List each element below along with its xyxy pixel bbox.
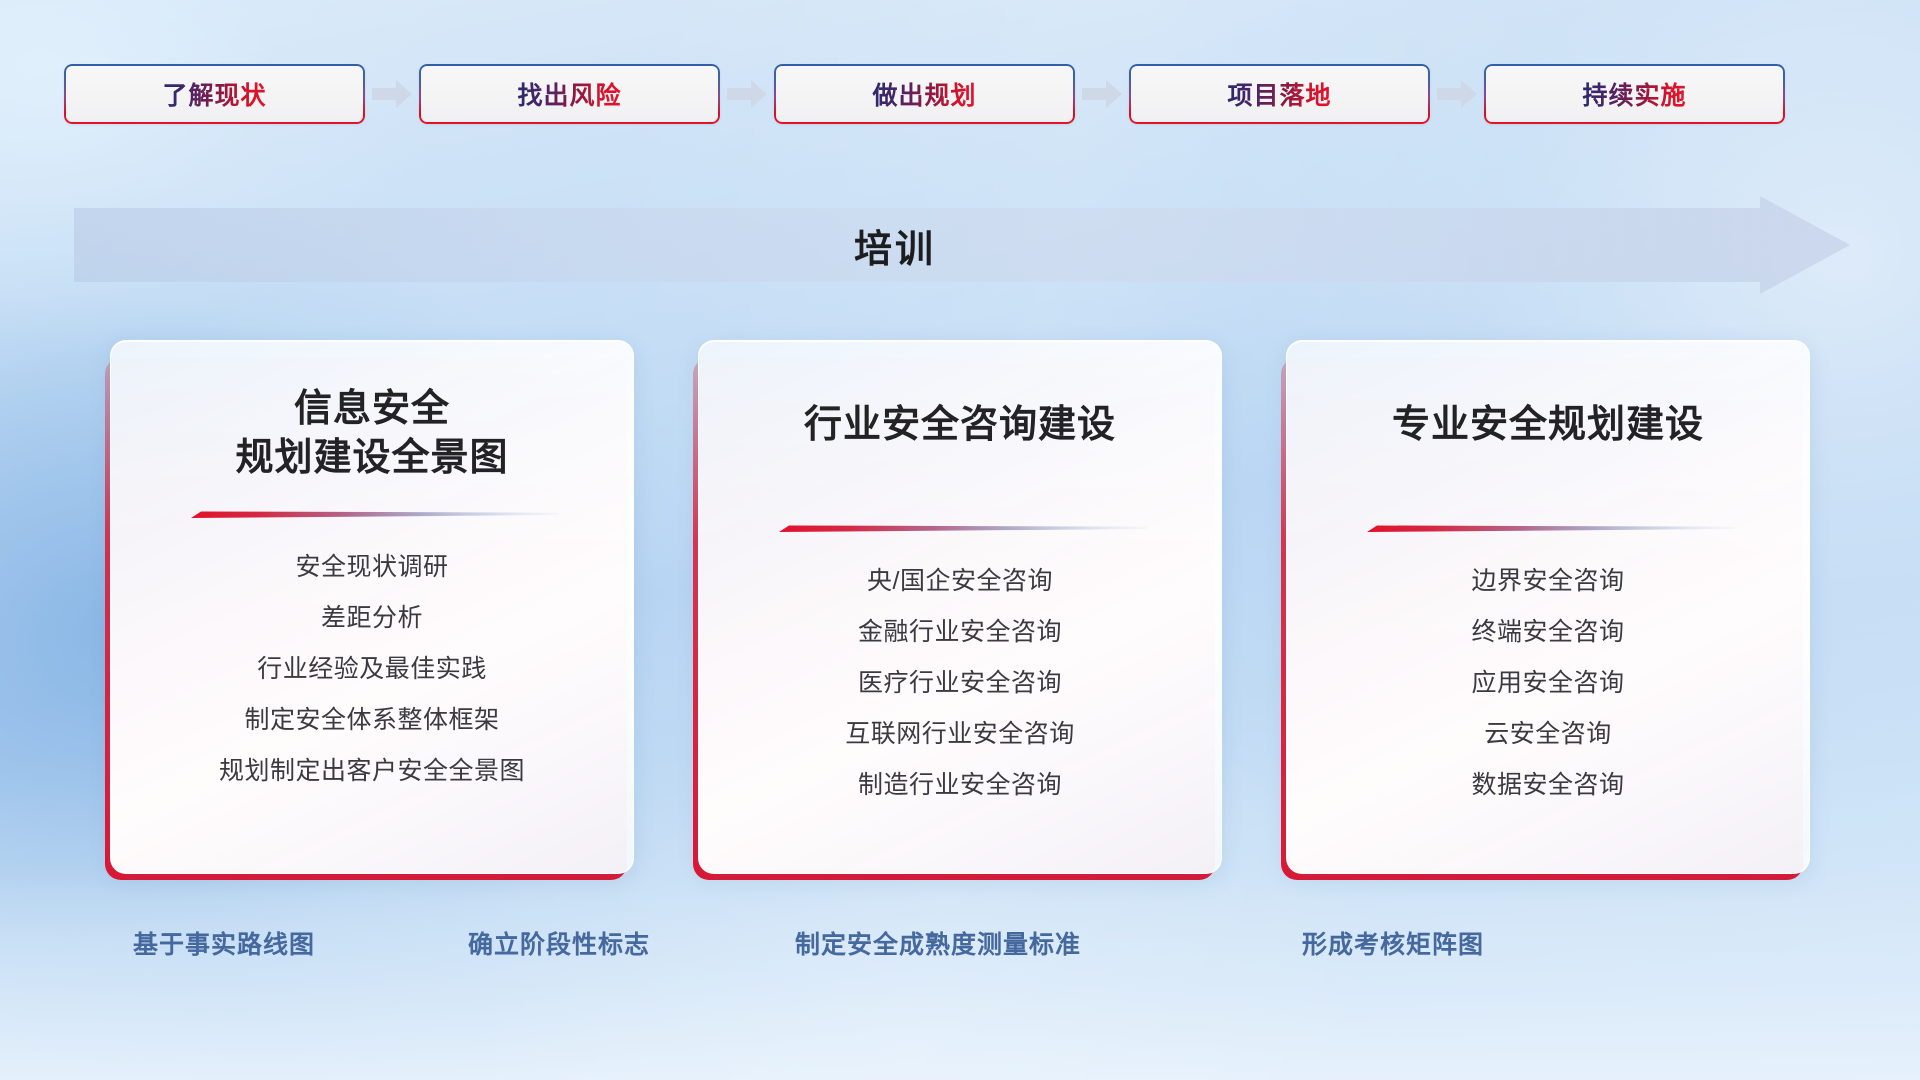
caption-item: 确立阶段性标志 bbox=[468, 925, 650, 961]
process-step-2[interactable]: 找出风险 bbox=[419, 64, 720, 124]
card-item-list: 边界安全咨询 终端安全咨询 应用安全咨询 云安全咨询 数据安全咨询 bbox=[1317, 536, 1779, 843]
arrow-right-icon bbox=[365, 77, 419, 111]
card-accent-divider bbox=[185, 508, 559, 522]
process-step-3[interactable]: 做出规划 bbox=[774, 64, 1075, 124]
arrow-right-icon bbox=[1430, 77, 1484, 111]
training-arrow-band bbox=[74, 196, 1850, 294]
process-step-label: 持续实施 bbox=[1582, 76, 1686, 112]
service-card-1[interactable]: 信息安全 规划建设全景图 bbox=[110, 340, 634, 874]
card-list-item: 数据安全咨询 bbox=[1317, 760, 1779, 811]
title-divider-spacer bbox=[141, 482, 603, 508]
card-list-item: 医疗行业安全咨询 bbox=[729, 658, 1191, 709]
card-list-item: 规划制定出客户安全全景图 bbox=[141, 746, 603, 797]
caption-item: 基于事实路线图 bbox=[133, 925, 315, 961]
caption-item: 制定安全成熟度测量标准 bbox=[795, 925, 1081, 961]
card-list-item: 央/国企安全咨询 bbox=[729, 556, 1191, 607]
card-body: 行业安全咨询建设 bbox=[698, 340, 1222, 874]
title-divider-spacer bbox=[1317, 450, 1779, 522]
caption-item: 形成考核矩阵图 bbox=[1302, 925, 1484, 961]
process-step-label: 做出规划 bbox=[872, 76, 976, 112]
card-item-list: 央/国企安全咨询 金融行业安全咨询 医疗行业安全咨询 互联网行业安全咨询 制造行… bbox=[729, 536, 1191, 843]
arrow-right-icon bbox=[720, 77, 774, 111]
card-list-item: 云安全咨询 bbox=[1317, 709, 1779, 760]
card-title: 专业安全规划建设 bbox=[1317, 385, 1779, 450]
card-list-item: 安全现状调研 bbox=[141, 542, 603, 593]
card-list-item: 边界安全咨询 bbox=[1317, 556, 1779, 607]
arrow-right-icon bbox=[1075, 77, 1129, 111]
card-body: 专业安全规划建设 bbox=[1286, 340, 1810, 874]
card-list-item: 行业经验及最佳实践 bbox=[141, 644, 603, 695]
card-list-item: 应用安全咨询 bbox=[1317, 658, 1779, 709]
title-divider-spacer bbox=[729, 450, 1191, 522]
caption-row: 基于事实路线图 确立阶段性标志 制定安全成熟度测量标准 形成考核矩阵图 bbox=[0, 925, 1920, 971]
process-step-label: 项目落地 bbox=[1227, 76, 1331, 112]
process-step-5[interactable]: 持续实施 bbox=[1484, 64, 1785, 124]
card-title: 行业安全咨询建设 bbox=[729, 385, 1191, 450]
card-list-item: 制造行业安全咨询 bbox=[729, 760, 1191, 811]
service-card-row: 信息安全 规划建设全景图 bbox=[110, 340, 1810, 880]
slide-canvas: 了解现状 找出风险 做出规划 项目落地 bbox=[0, 0, 1920, 1080]
card-accent-divider bbox=[773, 522, 1147, 536]
service-card-2[interactable]: 行业安全咨询建设 bbox=[698, 340, 1222, 874]
process-step-1[interactable]: 了解现状 bbox=[64, 64, 365, 124]
process-step-label: 了解现状 bbox=[162, 76, 266, 112]
card-item-list: 安全现状调研 差距分析 行业经验及最佳实践 制定安全体系整体框架 规划制定出客户… bbox=[141, 522, 603, 843]
card-list-item: 终端安全咨询 bbox=[1317, 607, 1779, 658]
card-title: 信息安全 规划建设全景图 bbox=[141, 385, 603, 482]
card-list-item: 制定安全体系整体框架 bbox=[141, 695, 603, 746]
process-step-label: 找出风险 bbox=[517, 76, 621, 112]
card-body: 信息安全 规划建设全景图 bbox=[110, 340, 634, 874]
card-list-item: 互联网行业安全咨询 bbox=[729, 709, 1191, 760]
service-card-3[interactable]: 专业安全规划建设 bbox=[1286, 340, 1810, 874]
card-list-item: 金融行业安全咨询 bbox=[729, 607, 1191, 658]
process-step-4[interactable]: 项目落地 bbox=[1129, 64, 1430, 124]
process-step-row: 了解现状 找出风险 做出规划 项目落地 bbox=[64, 64, 1856, 124]
card-accent-divider bbox=[1361, 522, 1735, 536]
card-list-item: 差距分析 bbox=[141, 593, 603, 644]
